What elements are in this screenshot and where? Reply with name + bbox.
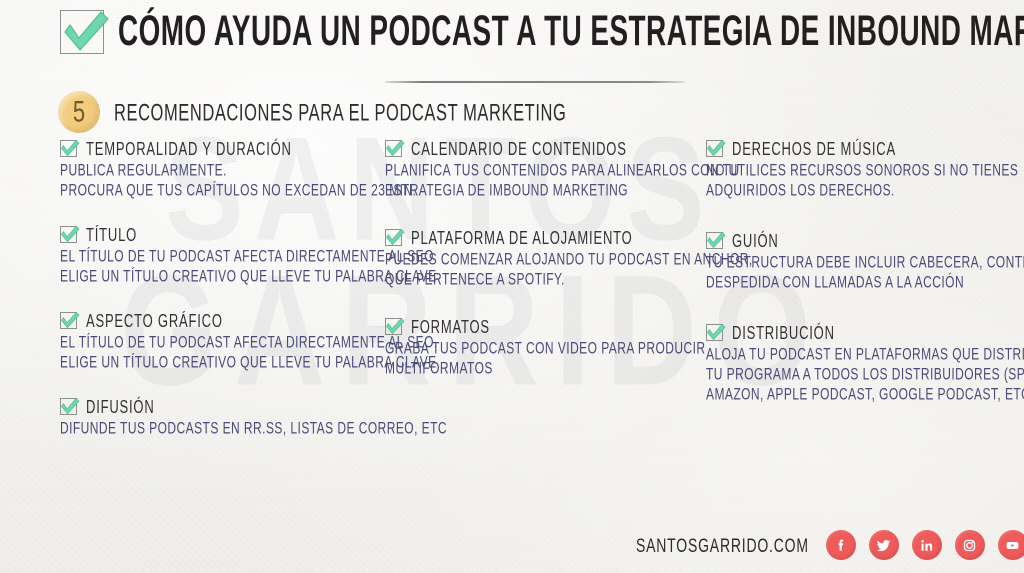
section-title: RECOMENDACIONES PARA EL PODCAST MARKETIN… [114,100,566,124]
check-square-icon [60,312,77,329]
social-links [826,530,1024,560]
checklist-item-body: PUEDES COMENZAR ALOJANDO TU PODCAST EN A… [385,253,705,285]
checklist-item-title: FORMATOS [411,317,490,336]
checklist-item-title: TEMPORALIDAD Y DURACIÓN [86,139,292,158]
checklist-item: GUIÓNTU ESTRUCTURA DEBE INCLUIR CABECERA… [706,232,1006,288]
checklist-item-header: DIFUSIÓN [60,398,385,415]
checklist-item-body: ALOJA TU PODCAST EN PLATAFORMAS QUE DIST… [706,348,1006,400]
checklist-item-body: TU ESTRUCTURA DEBE INCLUIR CABECERA, CON… [706,256,1006,288]
column-2: CALENDARIO DE CONTENIDOSPLANIFICA TUS CO… [385,140,705,382]
checklist-item-line: PUBLICA REGULARMENTE. [60,161,385,178]
checklist-item-line: TU ESTRUCTURA DEBE INCLUIR CABECERA, CON… [706,253,1006,270]
check-square-icon [385,318,402,335]
checklist-item-title: GUIÓN [732,231,779,250]
checklist-item-header: GUIÓN [706,232,1006,249]
slide-canvas: SANTOS GARRIDO CÓMO AYUDA UN PODCAST A T… [0,0,1024,573]
checklist-item-body: NO UTILICES RECURSOS SONOROS SI NO TIENE… [706,164,1006,196]
instagram-icon [961,537,978,554]
check-square-icon [706,140,723,157]
checklist-item: FORMATOSGRABA TUS PODCAST CON VIDEO PARA… [385,318,705,374]
checklist-item-title: TÍTULO [86,225,137,244]
checklist-item-line: EL TÍTULO DE TU PODCAST AFECTA DIRECTAME… [60,247,385,264]
checklist-item-line: ELIGE UN TÍTULO CREATIVO QUE LLEVE TU PA… [60,353,385,370]
checklist-item-line: ADQUIRIDOS LOS DERECHOS. [706,181,1006,198]
checklist-item: ASPECTO GRÁFICOEL TÍTULO DE TU PODCAST A… [60,312,385,368]
youtube-icon [1004,537,1021,554]
linkedin-icon [918,537,935,554]
social-link-twitter[interactable] [869,530,899,560]
checklist-item-title: DISTRIBUCIÓN [732,323,835,342]
checklist-item-body: PUBLICA REGULARMENTE.PROCURA QUE TUS CAP… [60,164,385,196]
checklist-item: TÍTULOEL TÍTULO DE TU PODCAST AFECTA DIR… [60,226,385,282]
checklist-item-header: CALENDARIO DE CONTENIDOS [385,140,705,157]
checklist-item-line: ELIGE UN TÍTULO CREATIVO QUE LLEVE TU PA… [60,267,385,284]
checklist-item-line: EL TÍTULO DE TU PODCAST AFECTA DIRECTAME… [60,333,385,350]
checklist-item-header: DISTRIBUCIÓN [706,324,1006,341]
checklist-item-line: MULTIFORMATOS [385,359,705,376]
checklist-item-line: DIFUNDE TUS PODCASTS EN RR.SS, LISTAS DE… [60,419,385,436]
checklist-item-header: TEMPORALIDAD Y DURACIÓN [60,140,385,157]
checklist-item-header: TÍTULO [60,226,385,243]
page-title: CÓMO AYUDA UN PODCAST A TU ESTRATEGIA DE… [118,11,1024,54]
check-square-icon [60,226,77,243]
check-square-icon [706,232,723,249]
checklist-item-title: PLATAFORMA DE ALOJAMIENTO [411,228,633,247]
checklist-item: DERECHOS DE MÚSICANO UTILICES RECURSOS S… [706,140,1006,196]
checklist-item: DISTRIBUCIÓNALOJA TU PODCAST EN PLATAFOR… [706,324,1006,400]
website-label: SANTOSGARRIDO.COM [636,535,809,555]
header-divider [385,81,685,83]
check-square-icon [60,10,104,54]
checklist-item-header: ASPECTO GRÁFICO [60,312,385,329]
checklist-item-title: ASPECTO GRÁFICO [86,311,223,330]
checklist-item-header: PLATAFORMA DE ALOJAMIENTO [385,229,705,246]
check-square-icon [706,324,723,341]
social-link-instagram[interactable] [955,530,985,560]
check-square-icon [60,398,77,415]
slide-header: CÓMO AYUDA UN PODCAST A TU ESTRATEGIA DE… [60,10,1024,54]
social-link-facebook[interactable] [826,530,856,560]
check-square-icon [385,229,402,246]
checklist-item-body: PLANIFICA TUS CONTENIDOS PARA ALINEARLOS… [385,164,705,196]
checklist-item: PLATAFORMA DE ALOJAMIENTOPUEDES COMENZAR… [385,229,705,285]
checklist-item-body: EL TÍTULO DE TU PODCAST AFECTA DIRECTAME… [60,336,385,368]
checklist-item-title: DIFUSIÓN [86,397,155,416]
checklist-item-line: PUEDES COMENZAR ALOJANDO TU PODCAST EN A… [385,250,705,267]
checklist-item-line: GRABA TUS PODCAST CON VIDEO PARA PRODUCI… [385,339,705,356]
column-1: TEMPORALIDAD Y DURACIÓNPUBLICA REGULARME… [60,140,385,442]
checklist-item-title: CALENDARIO DE CONTENIDOS [411,139,627,158]
checklist-item: CALENDARIO DE CONTENIDOSPLANIFICA TUS CO… [385,140,705,196]
column-3: DERECHOS DE MÚSICANO UTILICES RECURSOS S… [706,140,1006,408]
checklist-item-line: PLANIFICA TUS CONTENIDOS PARA ALINEARLOS… [385,161,705,178]
social-link-linkedin[interactable] [912,530,942,560]
checklist-item-line: ALOJA TU PODCAST EN PLATAFORMAS QUE DIST… [706,345,1006,362]
checklist-item-body: EL TÍTULO DE TU PODCAST AFECTA DIRECTAME… [60,250,385,282]
checklist-item-line: AMAZON, APPLE PODCAST, GOOGLE PODCAST, E… [706,385,1006,402]
checklist-item-body: DIFUNDE TUS PODCASTS EN RR.SS, LISTAS DE… [60,422,385,434]
slide-footer: SANTOSGARRIDO.COM [636,530,1024,560]
checklist-item-line: TU PROGRAMA A TODOS LOS DISTRIBUIDORES (… [706,365,1006,382]
check-square-icon [385,140,402,157]
checklist-item-body: GRABA TUS PODCAST CON VIDEO PARA PRODUCI… [385,342,705,374]
facebook-icon [832,537,849,554]
checklist-item-line: NO UTILICES RECURSOS SONOROS SI NO TIENE… [706,161,1006,178]
checklist-item-line: PROCURA QUE TUS CAPÍTULOS NO EXCEDAN DE … [60,181,385,198]
checklist-item-line: ESTRATEGIA DE IMBOUND MARKETING [385,181,705,198]
check-square-icon [60,140,77,157]
twitter-icon [875,537,892,554]
section-number: 5 [73,97,85,127]
checklist-item-line: QUE PERTENECE A SPOTIFY. [385,270,705,287]
social-link-youtube[interactable] [998,530,1024,560]
section-heading: 5 RECOMENDACIONES PARA EL PODCAST MARKET… [58,91,580,133]
section-number-badge: 5 [58,91,100,133]
checklist-item: TEMPORALIDAD Y DURACIÓNPUBLICA REGULARME… [60,140,385,196]
checklist-item-header: DERECHOS DE MÚSICA [706,140,1006,157]
checklist-item: DIFUSIÓNDIFUNDE TUS PODCASTS EN RR.SS, L… [60,398,385,434]
checklist-item-title: DERECHOS DE MÚSICA [732,139,896,158]
checklist-item-line: DESPEDIDA CON LLAMADAS A LA ACCIÓN [706,273,1006,290]
checklist-item-header: FORMATOS [385,318,705,335]
